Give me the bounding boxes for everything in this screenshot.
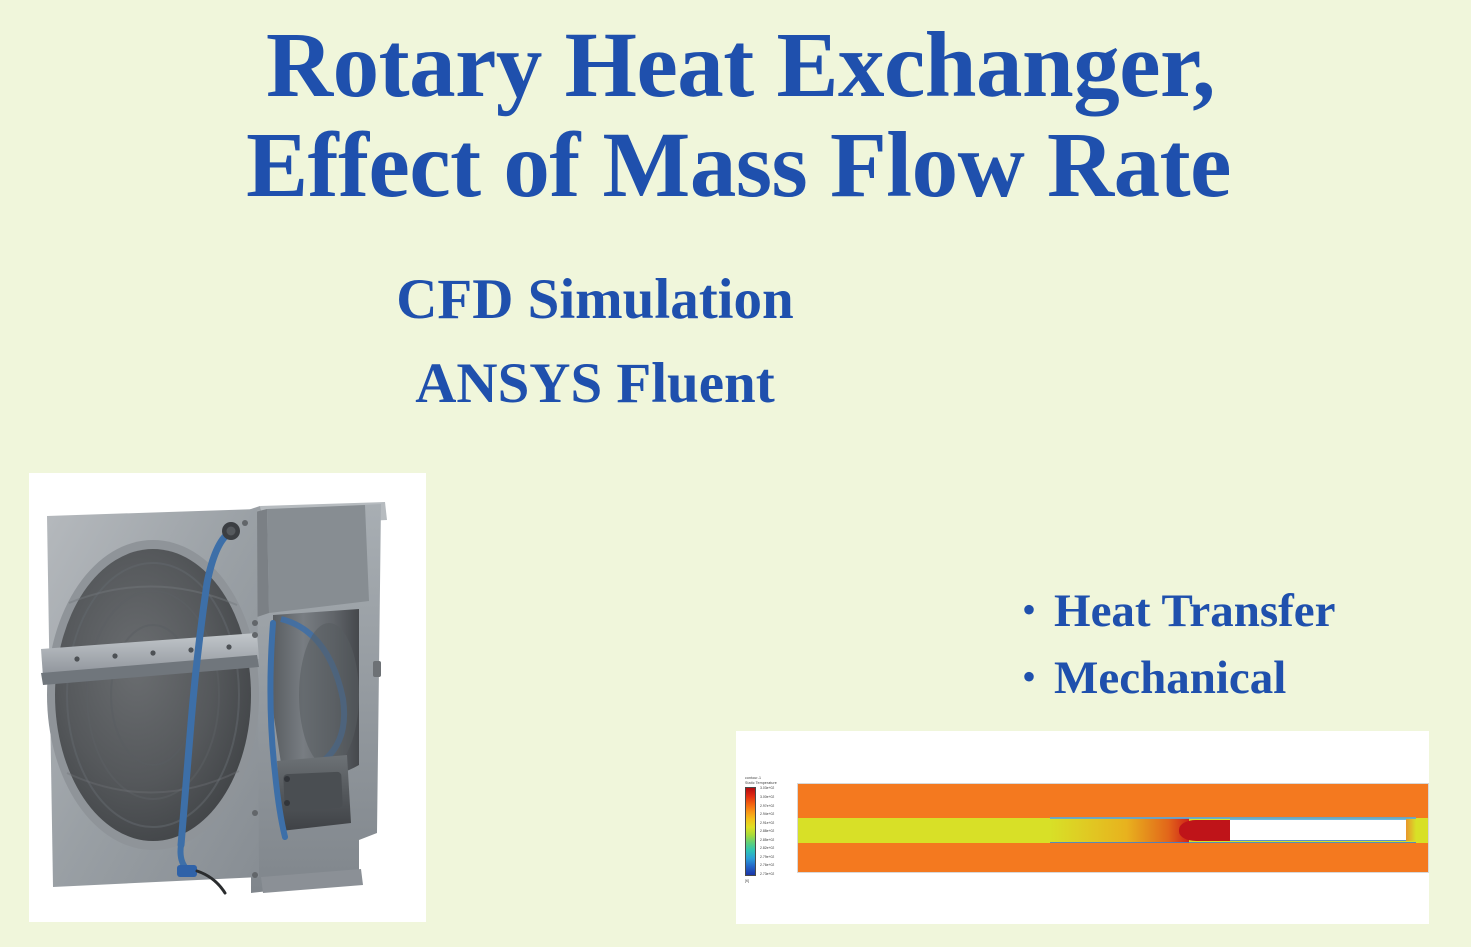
- heat-exchanger-photo: [29, 473, 426, 922]
- feature-bullet-list: • Heat Transfer • Mechanical: [1022, 584, 1442, 719]
- bullet-dot-icon: •: [1022, 657, 1036, 697]
- cfd-contour-panel: contour-1 Static Temperature 3.03e+02 3.…: [736, 731, 1429, 924]
- side-latch: [373, 661, 381, 677]
- page-subtitle: CFD Simulation ANSYS Fluent: [0, 258, 1190, 426]
- contour-field: [797, 783, 1429, 873]
- contour-region-lower-stream: [797, 843, 1429, 873]
- legend-tick: 3.00e+02: [760, 796, 774, 799]
- subtitle-line-1: CFD Simulation: [0, 258, 1190, 342]
- rotor-wheel: [55, 549, 251, 841]
- list-item: • Mechanical: [1022, 651, 1442, 706]
- contour-region-upper-stream: [797, 783, 1429, 818]
- legend-tick: 2.91e+02: [760, 822, 774, 825]
- contour-region-outlet-transition: [1406, 819, 1416, 841]
- legend-tick: 2.88e+02: [760, 830, 774, 833]
- bullet-dot-icon: •: [1022, 590, 1036, 630]
- contour-region-hot-spot: [1179, 820, 1236, 841]
- legend-unit-label: [K]: [745, 879, 799, 883]
- heat-exchanger-photo-image: [29, 473, 426, 922]
- legend-tick: 2.79e+02: [760, 856, 774, 859]
- legend-body: 3.03e+02 3.00e+02 2.97e+02 2.94e+02 2.91…: [745, 787, 799, 876]
- cable-connector: [177, 865, 197, 877]
- legend-tick: 2.76e+02: [760, 864, 774, 867]
- slide-canvas: Rotary Heat Exchanger, Effect of Mass Fl…: [0, 0, 1471, 947]
- contour-wall-line-bottom: [1050, 842, 1417, 844]
- legend-tick: 2.73e+02: [760, 873, 774, 876]
- page-title: Rotary Heat Exchanger, Effect of Mass Fl…: [0, 16, 1471, 217]
- contour-legend: contour-1 Static Temperature 3.03e+02 3.…: [745, 776, 799, 883]
- legend-colorbar: [745, 787, 756, 876]
- contour-region-core-heating: [1050, 818, 1189, 843]
- bullet-label-heat-transfer: Heat Transfer: [1054, 584, 1336, 639]
- legend-tick: 2.97e+02: [760, 805, 774, 808]
- subtitle-line-2: ANSYS Fluent: [0, 342, 1190, 426]
- legend-tick: 2.94e+02: [760, 813, 774, 816]
- legend-tick: 2.82e+02: [760, 847, 774, 850]
- bullet-label-mechanical: Mechanical: [1054, 651, 1286, 706]
- legend-tick: 2.85e+02: [760, 839, 774, 842]
- legend-tick: 3.03e+02: [760, 787, 774, 790]
- title-line-1: Rotary Heat Exchanger,: [0, 16, 1471, 116]
- title-line-2: Effect of Mass Flow Rate: [0, 116, 1471, 216]
- legend-tick-list: 3.03e+02 3.00e+02 2.97e+02 2.94e+02 2.91…: [760, 787, 774, 876]
- list-item: • Heat Transfer: [1022, 584, 1442, 639]
- contour-region-solid-wall: [1230, 819, 1406, 841]
